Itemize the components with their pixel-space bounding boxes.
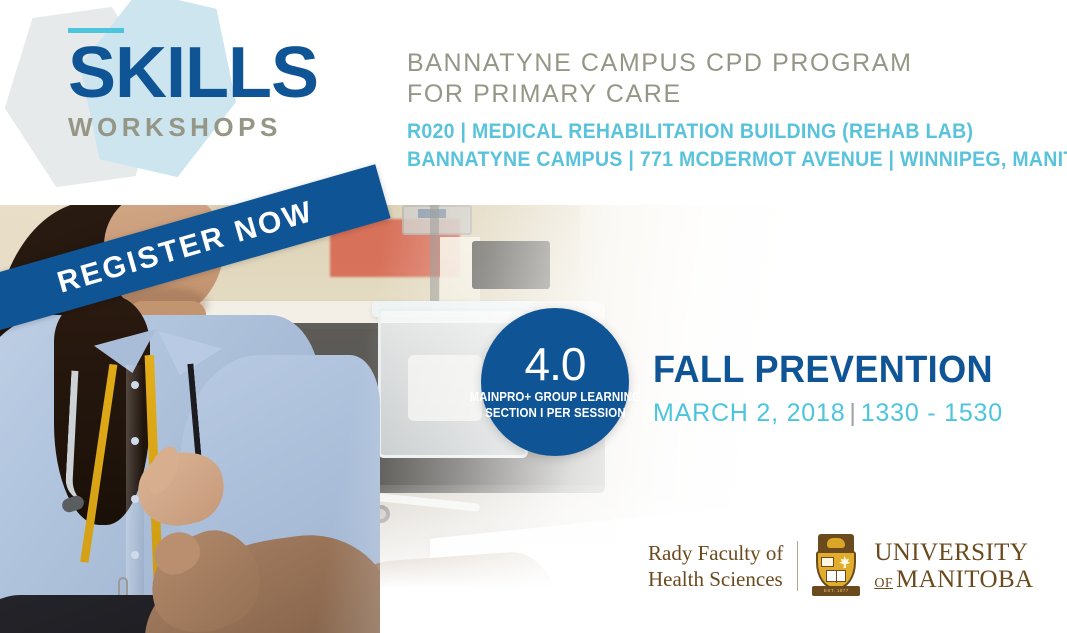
program-title-line-2: FOR PRIMARY CARE — [407, 79, 1047, 110]
rady-line-2: Health Sciences — [648, 566, 783, 592]
program-title-line-1: BANNATYNE CAMPUS CPD PROGRAM — [407, 48, 1047, 79]
university-of-manitoba-logo: Rady Faculty of Health Sciences EST. 187… — [648, 534, 1033, 598]
venue-block: R020 | MEDICAL REHABILITATION BUILDING (… — [407, 118, 1047, 175]
credit-description-line-2: SECTION I PER SESSION — [485, 406, 626, 421]
logo-divider — [797, 541, 798, 591]
event-time: 1330 - 1530 — [861, 399, 1003, 427]
bison-icon — [827, 538, 845, 548]
crest-motto: EST. 1877 — [812, 587, 860, 595]
rady-faculty-wordmark: Rady Faculty of Health Sciences — [648, 540, 783, 593]
university-manitoba-word: MANITOBA — [896, 566, 1033, 593]
credit-description-line-1: MAINPRO+ GROUP LEARNING — [469, 390, 641, 405]
university-of-word: OF — [874, 576, 896, 591]
datetime-separator: | — [845, 399, 860, 427]
venue-line-1: R020 | MEDICAL REHABILITATION BUILDING (… — [407, 118, 1002, 146]
poster-header: SKILLS WORKSHOPS BANNATYNE CAMPUS CPD PR… — [0, 0, 1067, 205]
university-crest-icon: EST. 1877 — [812, 534, 860, 598]
logo-subtitle: WORKSHOPS — [68, 112, 388, 143]
credit-value: 4.0 — [525, 343, 586, 385]
university-wordmark: UNIVERSITY OFMANITOBA — [874, 539, 1033, 593]
skills-workshops-logo: SKILLS WORKSHOPS — [68, 28, 388, 143]
header-text-block: BANNATYNE CAMPUS CPD PROGRAM FOR PRIMARY… — [407, 48, 1047, 175]
open-book-icon — [826, 570, 846, 582]
castle-icon — [821, 557, 834, 567]
event-date: MARCH 2, 2018 — [653, 399, 845, 427]
university-line-2: OFMANITOBA — [874, 566, 1033, 593]
venue-line-2: BANNATYNE CAMPUS | 771 MCDERMOT AVENUE |… — [407, 146, 1002, 174]
event-details: FALL PREVENTION MARCH 2, 2018|1330 - 153… — [653, 351, 1053, 428]
event-datetime: MARCH 2, 2018|1330 - 1530 — [653, 399, 1053, 428]
rady-line-1: Rady Faculty of — [648, 540, 783, 566]
credit-badge: 4.0 MAINPRO+ GROUP LEARNING SECTION I PE… — [481, 308, 629, 456]
university-line-1: UNIVERSITY — [874, 539, 1033, 566]
logo-title: SKILLS — [68, 39, 388, 108]
skills-workshop-poster: SKILLS WORKSHOPS BANNATYNE CAMPUS CPD PR… — [0, 0, 1067, 633]
event-title: FALL PREVENTION — [653, 351, 1033, 391]
